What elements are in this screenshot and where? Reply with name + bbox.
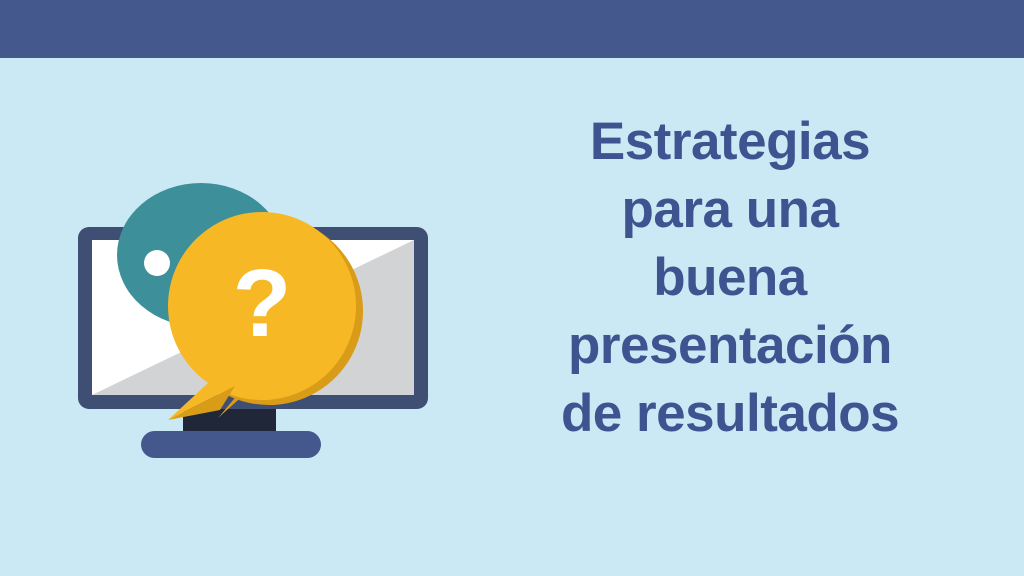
monitor-stand-base: [141, 431, 321, 458]
monitor-stand-group: [141, 406, 321, 458]
illustration-monitor-with-speech-bubbles: ?: [60, 118, 440, 462]
page-title: Estrategias para una buena presentación …: [470, 108, 990, 448]
slide-canvas: ? Estrategias para una buena presentació…: [0, 0, 1024, 576]
title-line-1: Estrategias: [470, 108, 990, 176]
chat-bubble-dot-1: [144, 250, 170, 276]
title-line-5: de resultados: [470, 380, 990, 448]
title-line-3: buena: [470, 244, 990, 312]
title-line-4: presentación: [470, 312, 990, 380]
title-line-2: para una: [470, 176, 990, 244]
question-mark-glyph: ?: [233, 250, 292, 357]
top-accent-bar: [0, 0, 1024, 58]
